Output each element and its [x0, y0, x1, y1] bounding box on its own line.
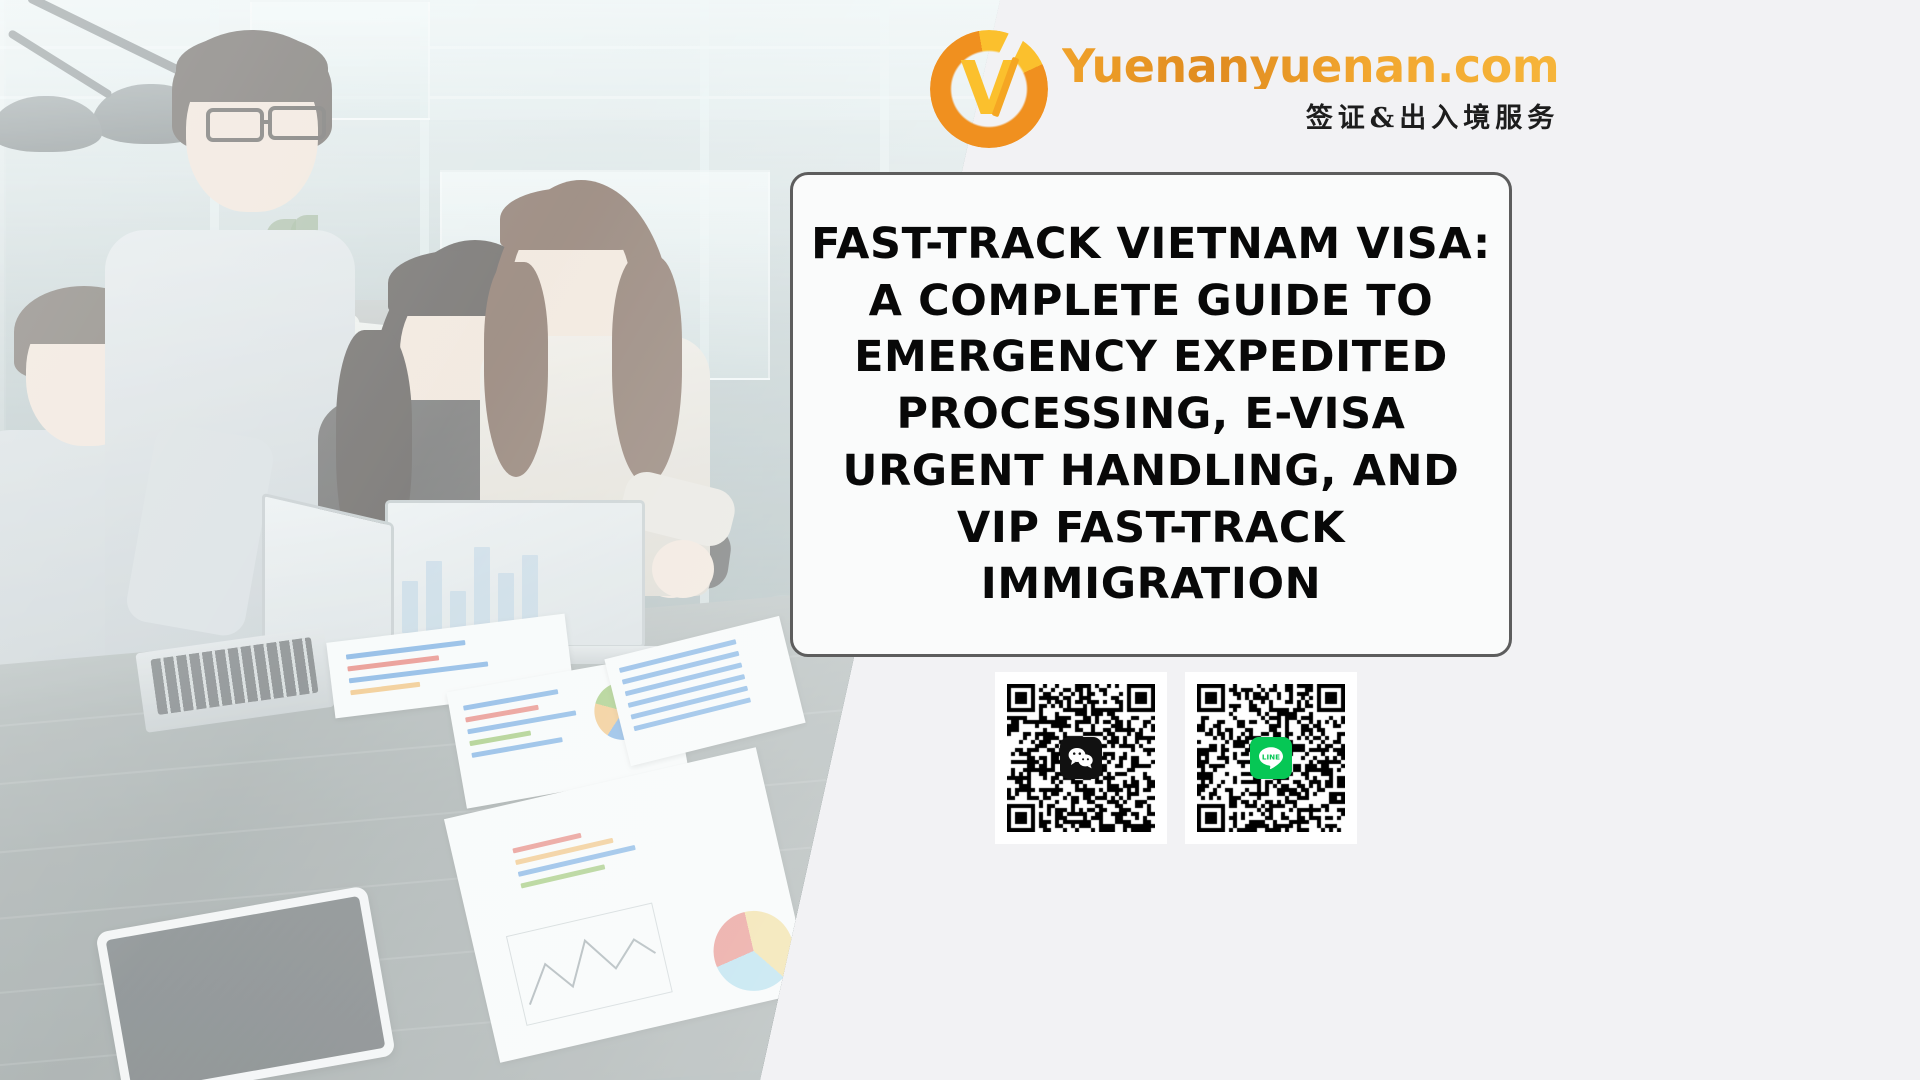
contact-qr-row: LINE [995, 672, 1357, 844]
logo-letter: V [960, 52, 1017, 126]
line-icon: LINE [1250, 737, 1292, 779]
brand-tagline: 签证&出入境服务 [1062, 96, 1559, 135]
page-title: Fast-Track Vietnam Visa: A Complete Guid… [807, 216, 1495, 613]
circular-v-logo-icon: V [930, 30, 1048, 148]
qr-card-line[interactable]: LINE [1185, 672, 1357, 844]
hero-title-card: Fast-Track Vietnam Visa: A Complete Guid… [790, 172, 1512, 657]
brand-name: Yuenanyuenan.com [1062, 43, 1559, 89]
promo-banner: V Yuenanyuenan.com 签证&出入境服务 Fast-Track V… [0, 0, 1920, 1080]
qr-card-wechat[interactable] [995, 672, 1167, 844]
svg-text:LINE: LINE [1262, 753, 1280, 762]
wechat-icon [1060, 737, 1102, 779]
brand-logo[interactable]: V Yuenanyuenan.com 签证&出入境服务 [930, 30, 1559, 148]
content-panel: V Yuenanyuenan.com 签证&出入境服务 Fast-Track V… [1020, 0, 1920, 1080]
